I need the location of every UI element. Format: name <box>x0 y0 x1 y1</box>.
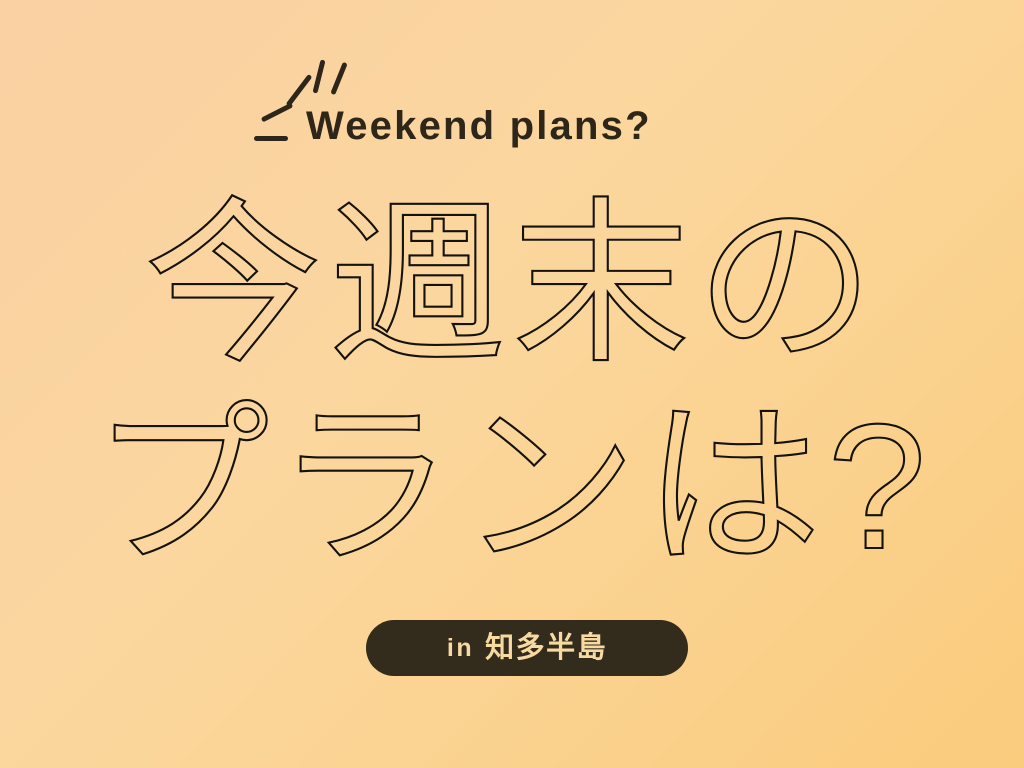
badge-place-label: 知多半島 <box>485 634 607 663</box>
sparkle-ray <box>312 59 325 93</box>
poster-canvas: Weekend plans? 今週末の プランは? in 知多半島 <box>0 0 1024 768</box>
sparkle-ray <box>254 136 288 141</box>
badge-prefix-label: in <box>447 636 474 661</box>
headline-line-1: 今週末の <box>0 196 1024 374</box>
sparkle-ray <box>286 74 313 107</box>
location-badge: in 知多半島 <box>366 620 688 676</box>
sparkle-ray <box>330 62 347 95</box>
eyebrow-text: Weekend plans? <box>306 106 652 146</box>
headline-line-2: プランは? <box>0 398 1024 576</box>
